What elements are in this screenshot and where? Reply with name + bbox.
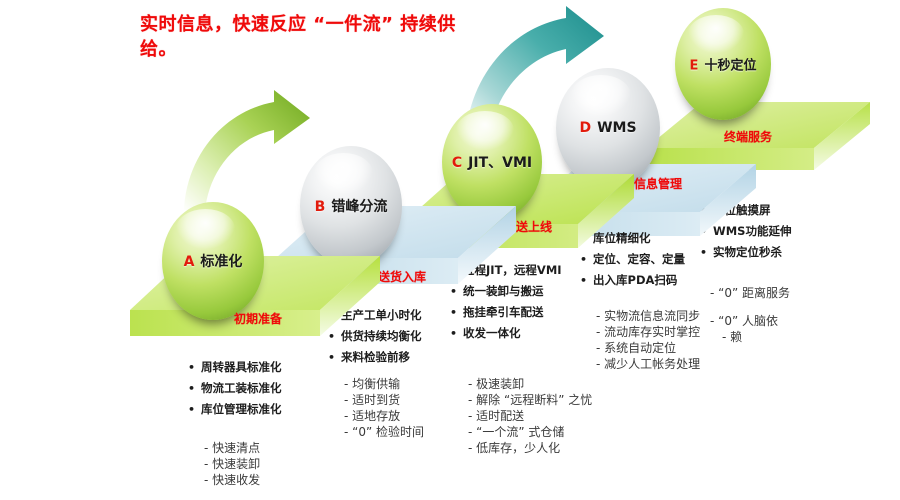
sub-list-item: 实物流信息流同步 (596, 308, 700, 324)
step-D-sphere-gloss (571, 75, 631, 116)
list-item: 物流工装标准化 (188, 378, 282, 399)
step-E-sphere-gloss (688, 15, 744, 53)
step-C-subbullets: 极速装卸 解除 “远程断料” 之忧 适时配送 “一个流” 式仓储 低库存，少人化 (468, 376, 592, 456)
list-item: 收发一体化 (450, 323, 562, 344)
step-B-sphere-label: B错峰分流 (300, 196, 402, 216)
step-D-sphere-label: DWMS (556, 120, 660, 136)
step-D-title: WMS (597, 120, 636, 136)
list-item: 库位管理标准化 (188, 399, 282, 420)
step-C-title: JIT、VMI (468, 155, 532, 171)
step-A-sphere-label: A标准化 (162, 251, 264, 271)
step-E-caption: 终端服务 (724, 128, 772, 145)
sub-list-item: “0” 检验时间 (344, 424, 424, 440)
step-B-sphere-gloss (314, 153, 373, 194)
sub-list-item-cont: 赖 (710, 329, 900, 345)
sub-list-item: 快速装卸 (204, 456, 260, 472)
sub-list-item: 快速收发 (204, 472, 260, 488)
list-item: 周转器具标准化 (188, 357, 282, 378)
step-A-title: 标准化 (200, 254, 242, 270)
sub-list-item: 低库存，少人化 (468, 440, 592, 456)
page-title-line-1: 实时信息，快速反应 “一件流” 持续供 (140, 12, 480, 37)
step-E-letter: E (690, 59, 699, 74)
step-A-caption: 初期准备 (234, 310, 282, 327)
sub-list-item: 快速清点 (204, 440, 260, 456)
step-A-bullets: 周转器具标准化 物流工装标准化 库位管理标准化 (188, 357, 282, 420)
sub-list-item: “一个流” 式仓储 (468, 424, 592, 440)
step-D-subbullets: 实物流信息流同步 流动库存实时掌控 系统自动定位 减少人工帐务处理 (596, 308, 700, 372)
slide-canvas: 实时信息，快速反应 “一件流” 持续供 给。 (0, 0, 900, 500)
sub-list-item: 极速装卸 (468, 376, 592, 392)
step-A-subbullets: 快速清点 快速装卸 快速收发 (204, 440, 260, 488)
step-E-sphere: E十秒定位 (675, 8, 771, 120)
step-A-sphere-gloss (176, 209, 235, 249)
step-B-title: 错峰分流 (331, 199, 387, 215)
step-B-subbullets: 均衡供输 适时到货 适地存放 “0” 检验时间 (344, 376, 424, 440)
sub-list-item: 适时到货 (344, 392, 424, 408)
sub-list-item: 减少人工帐务处理 (596, 356, 700, 372)
step-C-letter: C (452, 155, 462, 171)
step-B-letter: B (315, 199, 326, 215)
step-C-sphere-label: CJIT、VMI (442, 152, 542, 172)
sub-list-item: 流动库存实时掌控 (596, 324, 700, 340)
sub-list-item: 系统自动定位 (596, 340, 700, 356)
sub-list-item: 适时配送 (468, 408, 592, 424)
step-E-subbullets: “0” 距离服务 “0” 人脑依 赖 (710, 285, 900, 345)
step-E-sphere-label: E十秒定位 (675, 55, 771, 74)
step-E-title: 十秒定位 (704, 59, 756, 74)
sub-list-item: 适地存放 (344, 408, 424, 424)
step-A-letter: A (184, 254, 195, 270)
step-A-sphere: A标准化 (162, 202, 264, 320)
sub-list-item: “0” 人脑依 (710, 313, 900, 329)
page-title: 实时信息，快速反应 “一件流” 持续供 给。 (140, 12, 480, 62)
step-D-caption: 信息管理 (634, 175, 682, 192)
step-C-sphere-gloss (456, 111, 514, 150)
sub-list-item: “0” 距离服务 (710, 285, 900, 301)
sub-list-item: 均衡供输 (344, 376, 424, 392)
sub-list-item: 解除 “远程断料” 之忧 (468, 392, 592, 408)
page-title-line-2: 给。 (140, 37, 480, 62)
step-D-letter: D (579, 120, 591, 136)
